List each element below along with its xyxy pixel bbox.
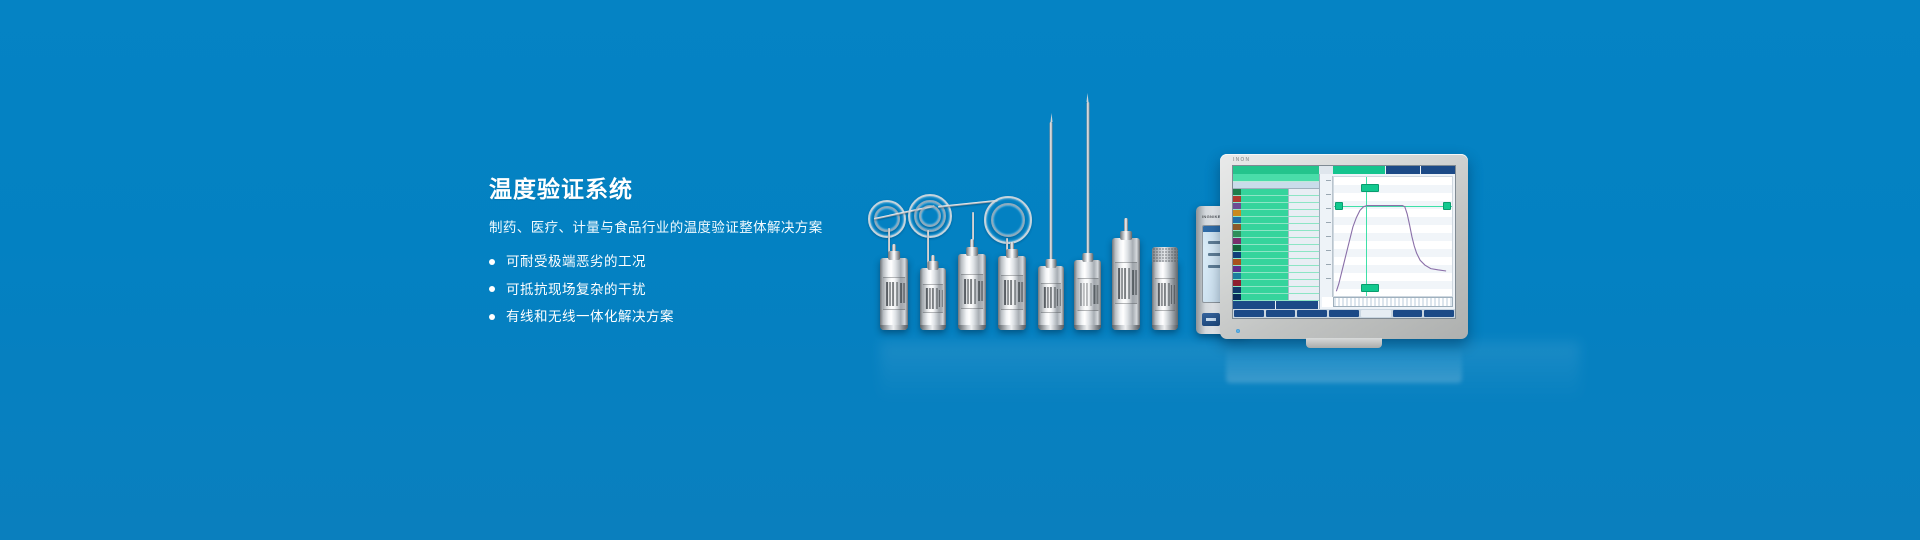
hero-banner: 温度验证系统 制药、医疗、计量与食品行业的温度验证整体解决方案 可耐受极端恶劣的…: [0, 0, 1920, 540]
coil-icon: [991, 203, 1025, 237]
channel-list-footer[interactable]: [1233, 301, 1319, 309]
logger-label: [1155, 278, 1175, 311]
toolbar-button-title[interactable]: [1233, 166, 1319, 174]
bottom-button-5[interactable]: [1393, 310, 1423, 317]
rigid-needle-probe: [1086, 102, 1089, 260]
software-bottom-bar[interactable]: [1233, 309, 1455, 318]
logger-cap: [928, 261, 939, 270]
table-row[interactable]: [1233, 245, 1319, 252]
feature-text: 可耐受极端恶劣的工况: [506, 255, 646, 269]
logger-label: [961, 274, 983, 309]
table-row[interactable]: [1233, 210, 1319, 217]
bottom-button-1[interactable]: [1234, 310, 1264, 317]
chart-plot-area[interactable]: [1333, 176, 1453, 297]
table-row[interactable]: [1233, 203, 1319, 210]
logger-label: [1115, 262, 1137, 304]
table-row[interactable]: [1233, 231, 1319, 238]
temperature-chart[interactable]: [1322, 176, 1453, 307]
bullet-dot-icon: [489, 259, 495, 265]
coil-icon: [919, 205, 941, 227]
bottom-button-2[interactable]: [1266, 310, 1296, 317]
coil-icon: [984, 196, 1032, 244]
logger-cap: [888, 251, 900, 260]
logger-unit: [1074, 260, 1101, 330]
reader-brand-label: INGNIKE: [1202, 214, 1221, 219]
channel-list-title: [1233, 174, 1319, 182]
logger-body: [920, 268, 946, 330]
bullet-dot-icon: [489, 286, 495, 292]
logger-label: [923, 284, 943, 313]
coil-icon: [908, 194, 952, 238]
software-toolbar[interactable]: [1233, 166, 1455, 174]
probe-wire: [938, 200, 998, 209]
power-led-icon: [1236, 329, 1240, 333]
toolbar-button-run[interactable]: [1333, 166, 1385, 174]
product-photo: INGNIKE M1 INON: [880, 120, 1580, 380]
logger-cap: [1006, 249, 1018, 258]
logger-cap: [1082, 253, 1093, 262]
software-body: [1233, 174, 1455, 309]
table-row[interactable]: [1233, 266, 1319, 273]
feature-text: 有线和无线一体化解决方案: [506, 310, 674, 324]
logger-cap: [1046, 259, 1057, 268]
logger-label: [1001, 275, 1023, 310]
table-row[interactable]: [1233, 189, 1319, 196]
probe-wire: [874, 205, 935, 220]
bottom-button-6[interactable]: [1424, 310, 1454, 317]
monitor-screen[interactable]: [1232, 165, 1456, 319]
chart-x-axis[interactable]: [1333, 297, 1453, 307]
feature-text: 可抵抗现场复杂的干扰: [506, 283, 646, 297]
logger-unit: [880, 258, 908, 330]
logger-body: [1074, 260, 1101, 330]
logger-body: [1112, 238, 1140, 330]
table-row[interactable]: [1233, 238, 1319, 245]
logger-unit: [998, 256, 1026, 330]
logger-unit: [1112, 238, 1140, 330]
toolbar-button-settings[interactable]: [1420, 166, 1455, 174]
sintered-mesh-cap-icon: [1152, 247, 1178, 262]
monitor-bezel: INON: [1220, 154, 1468, 339]
logger-body: [880, 258, 908, 330]
logger-label: [883, 277, 905, 311]
logger-cap: [966, 247, 978, 256]
coil-icon: [914, 200, 946, 232]
table-row[interactable]: [1233, 217, 1319, 224]
logger-unit: [1038, 266, 1064, 330]
reader-soft-key-left[interactable]: [1202, 313, 1220, 326]
bottom-button-4[interactable]: [1329, 310, 1359, 317]
table-row[interactable]: [1233, 287, 1319, 294]
table-row[interactable]: [1233, 224, 1319, 231]
monitor-reflection: [1226, 347, 1462, 383]
bottom-button-3[interactable]: [1297, 310, 1327, 317]
logger-label: [1077, 278, 1098, 311]
validation-software-monitor: INON: [1220, 154, 1468, 339]
table-row[interactable]: [1233, 280, 1319, 287]
logger-body: [998, 256, 1026, 330]
bullet-dot-icon: [489, 314, 495, 320]
logger-label: [1041, 283, 1061, 313]
table-row[interactable]: [1233, 252, 1319, 259]
chart-y-axis: [1322, 176, 1333, 297]
logger-body: [1038, 266, 1064, 330]
monitor-brand-label: INON: [1233, 157, 1250, 163]
logger-unit: [920, 268, 946, 330]
logger-body: [958, 254, 986, 330]
channel-list-header: [1233, 182, 1319, 189]
table-row[interactable]: [1233, 196, 1319, 203]
rigid-needle-probe: [1050, 122, 1053, 266]
bottom-spacer: [1361, 310, 1391, 317]
logger-unit: [958, 254, 986, 330]
table-row[interactable]: [1233, 273, 1319, 280]
logger-cap: [1120, 231, 1132, 240]
channel-list-panel[interactable]: [1233, 174, 1320, 309]
table-row[interactable]: [1233, 259, 1319, 266]
toolbar-spacer: [1319, 166, 1333, 174]
table-row[interactable]: [1233, 294, 1319, 301]
logger-body: [1152, 260, 1178, 330]
toolbar-button-export[interactable]: [1385, 166, 1420, 174]
temperature-curve: [1334, 177, 1452, 296]
logger-unit: [1152, 260, 1178, 330]
channel-rows[interactable]: [1233, 189, 1319, 301]
